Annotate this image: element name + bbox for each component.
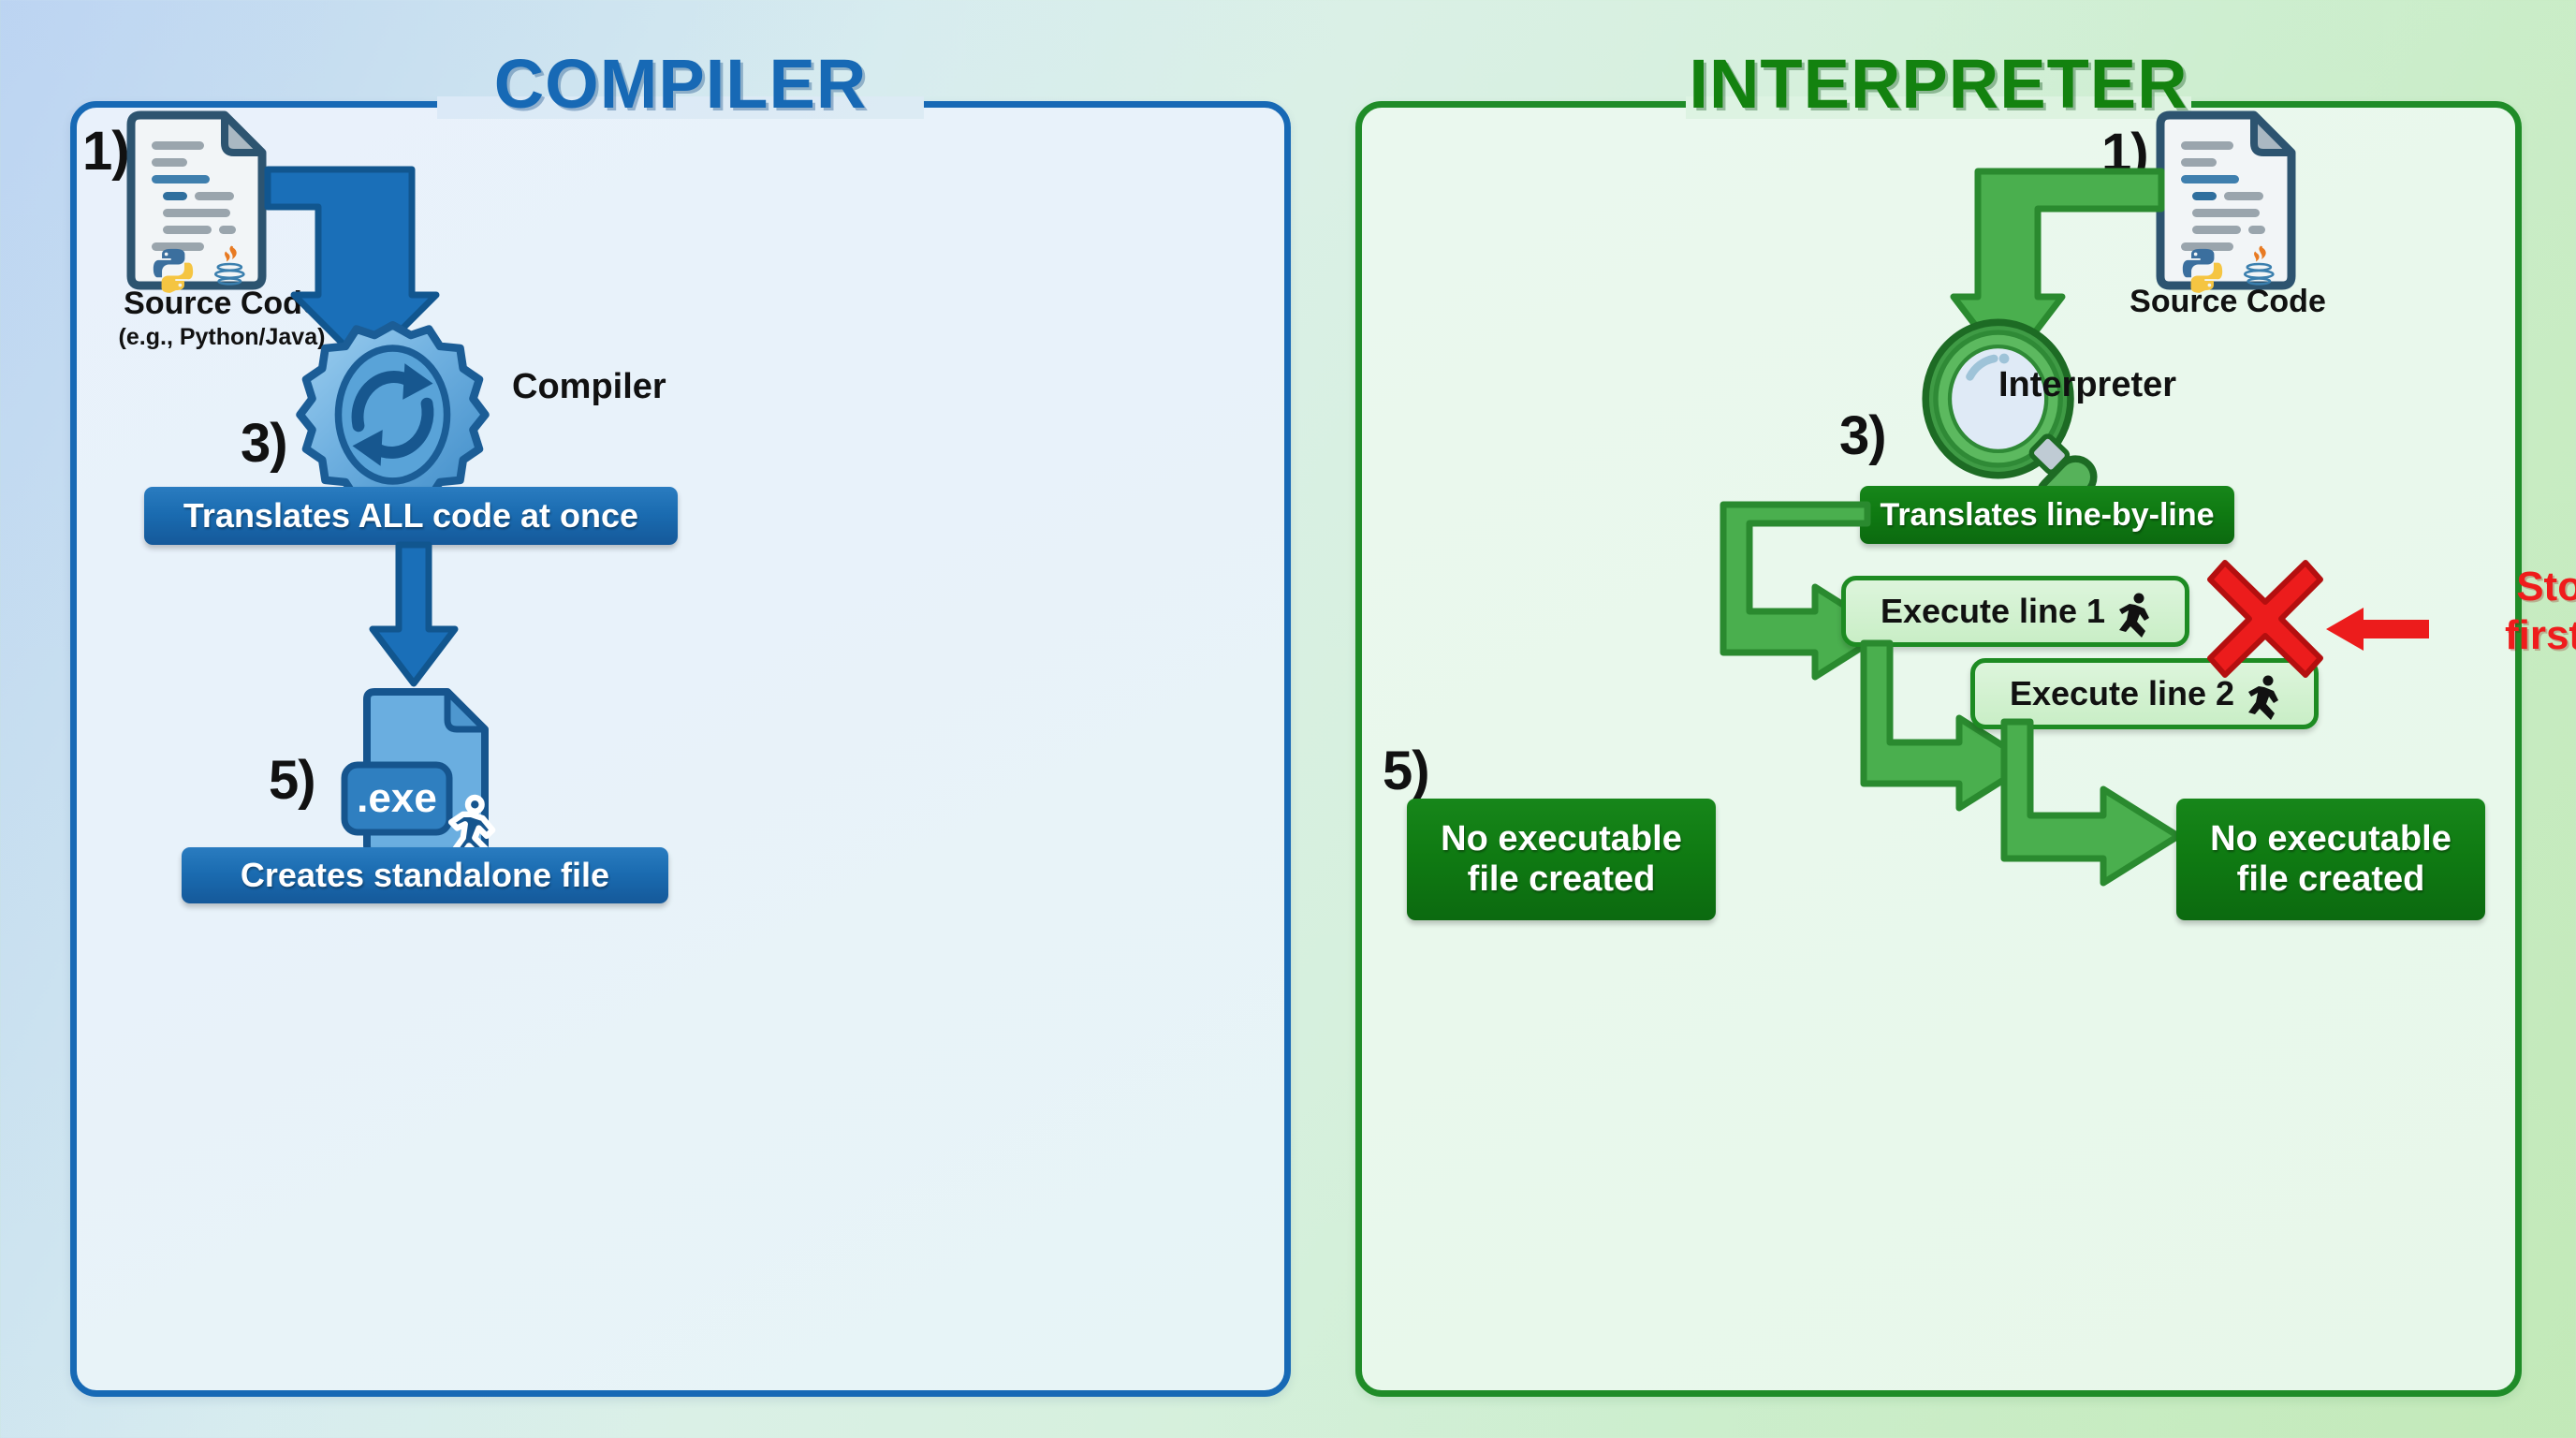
error-line-1: Stops at (2429, 566, 2576, 608)
result-left-line-1: No executable (1441, 819, 1682, 859)
interpreter-step-3-number: 3) (1839, 409, 1886, 463)
compiler-engine-label: Compiler (512, 367, 666, 407)
compiler-panel-title: COMPILER (470, 50, 892, 119)
compiler-result-banner: Creates standalone file (182, 847, 668, 903)
result-left-line-2: file created (1468, 859, 1656, 900)
stops-at-first-error-text: Stops at first error (2429, 566, 2576, 656)
execute-line-2-label: Execute line 2 (2010, 674, 2234, 713)
interpreter-result-banner-left: No executable file created (1407, 799, 1716, 920)
compiler-step-1-number: 1) (82, 125, 129, 179)
compiler-step-3-number: 3) (241, 417, 287, 471)
execute-line-1-label: Execute line 1 (1881, 592, 2105, 631)
compiler-translate-banner: Translates ALL code at once (144, 487, 678, 545)
diagram-canvas: COMPILER 1) (0, 0, 2576, 1438)
interpreter-panel-title: INTERPRETER (1664, 50, 2212, 119)
error-line-2: first error (2429, 615, 2576, 656)
execute-line-1-chip[interactable]: Execute line 1 (1841, 576, 2189, 647)
svg-text:.exe: .exe (357, 775, 437, 821)
running-person-icon (2118, 593, 2150, 630)
result-right-line-2: file created (2237, 859, 2425, 900)
compiler-banner-to-exe-arrow (358, 543, 470, 693)
interpreter-step-5-number: 5) (1383, 744, 1429, 799)
interpreter-source-code-icon (2153, 111, 2298, 289)
left-arrow-icon (2326, 604, 2429, 654)
compiler-panel: COMPILER 1) (70, 101, 1291, 1397)
interpreter-engine-label: Interpreter (1998, 365, 2176, 405)
source-code-document-icon (124, 111, 269, 289)
source-code-document-icon (2153, 111, 2298, 289)
running-person-icon (2247, 675, 2279, 712)
interpreter-panel: INTERPRETER 1) (1355, 101, 2522, 1397)
interpreter-result-banner-right: No executable file created (2176, 799, 2485, 920)
red-x-icon (2204, 557, 2326, 679)
compiler-exe-file-icon: .exe (337, 688, 524, 871)
result-right-line-1: No executable (2210, 819, 2452, 859)
compiler-source-code-icon (124, 111, 269, 289)
compiler-step-5-number: 5) (269, 754, 315, 808)
exe-file-icon: .exe (337, 688, 524, 871)
